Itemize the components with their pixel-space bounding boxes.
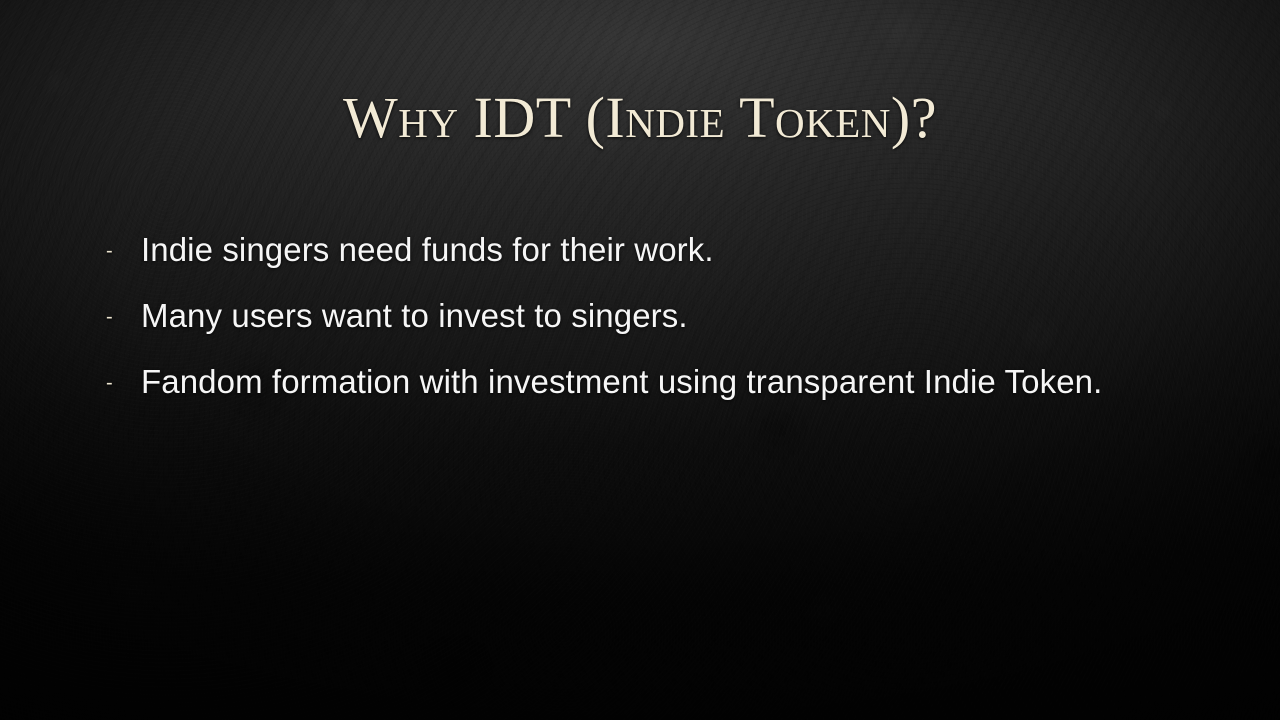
bullet-dash-icon: - — [106, 241, 120, 261]
list-item: - Many users want to invest to singers. — [104, 294, 1204, 360]
bullet-list: - Indie singers need funds for their wor… — [104, 228, 1204, 426]
list-item-label: Fandom formation with investment using t… — [141, 360, 1204, 404]
bullet-dash-icon: - — [106, 373, 120, 393]
list-item: - Indie singers need funds for their wor… — [104, 228, 1204, 294]
bullet-dash-icon: - — [106, 307, 120, 327]
slide-content: Why IDT (Indie Token)? - Indie singers n… — [0, 0, 1280, 720]
slide-title: Why IDT (Indie Token)? — [0, 88, 1280, 149]
list-item-label: Indie singers need funds for their work. — [141, 228, 1204, 272]
list-item-label: Many users want to invest to singers. — [141, 294, 1204, 338]
presentation-slide: Why IDT (Indie Token)? - Indie singers n… — [0, 0, 1280, 720]
list-item: - Fandom formation with investment using… — [104, 360, 1204, 426]
